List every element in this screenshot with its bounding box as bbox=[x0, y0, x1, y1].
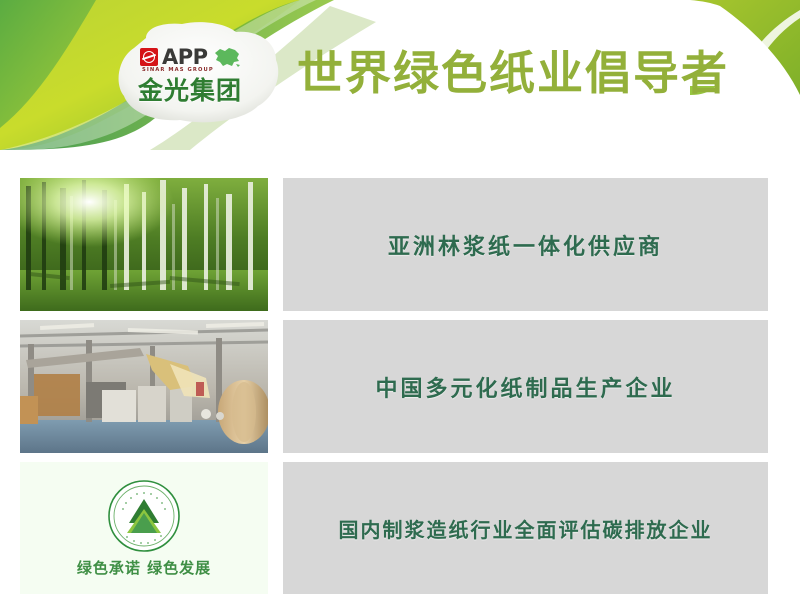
statement-panel: 中国多元化纸制品生产企业 bbox=[283, 320, 768, 453]
content-row: 中国多元化纸制品生产企业 bbox=[0, 320, 800, 456]
content-rows: 亚洲林浆纸一体化供应商 bbox=[0, 178, 800, 594]
green-forest-emblem-icon bbox=[107, 479, 181, 553]
logo-wordmark-row: APP bbox=[140, 46, 242, 68]
app-mark-icon bbox=[140, 48, 158, 66]
slide-canvas: APP SINAR MAS GROUP 金光集团 世界绿色纸业倡导者 bbox=[0, 0, 800, 594]
logo-group-line: SINAR MAS GROUP bbox=[142, 67, 214, 73]
logo-cloud-backdrop bbox=[112, 22, 284, 126]
logo-chinese-name: 金光集团 bbox=[138, 78, 242, 103]
forest-photo bbox=[20, 178, 268, 311]
content-row: 绿色承诺 绿色发展 国内制浆造纸行业全面评估碳排放企业 bbox=[0, 462, 800, 594]
paper-mill-photo bbox=[20, 320, 268, 453]
logo-brand-text: APP bbox=[162, 47, 208, 68]
page-title: 世界绿色纸业倡导者 bbox=[297, 50, 729, 96]
china-map-icon bbox=[212, 46, 242, 68]
statement-panel: 亚洲林浆纸一体化供应商 bbox=[283, 178, 768, 311]
statement-text: 国内制浆造纸行业全面评估碳排放企业 bbox=[339, 514, 713, 543]
statement-text: 亚洲林浆纸一体化供应商 bbox=[388, 229, 663, 261]
certificate-caption: 绿色承诺 绿色发展 bbox=[77, 557, 211, 578]
statement-text: 中国多元化纸制品生产企业 bbox=[375, 371, 675, 403]
statement-panel: 国内制浆造纸行业全面评估碳排放企业 bbox=[283, 462, 768, 594]
green-commitment-badge: 绿色承诺 绿色发展 bbox=[20, 462, 268, 594]
app-logo: APP SINAR MAS GROUP 金光集团 bbox=[112, 22, 284, 126]
content-row: 亚洲林浆纸一体化供应商 bbox=[0, 178, 800, 314]
